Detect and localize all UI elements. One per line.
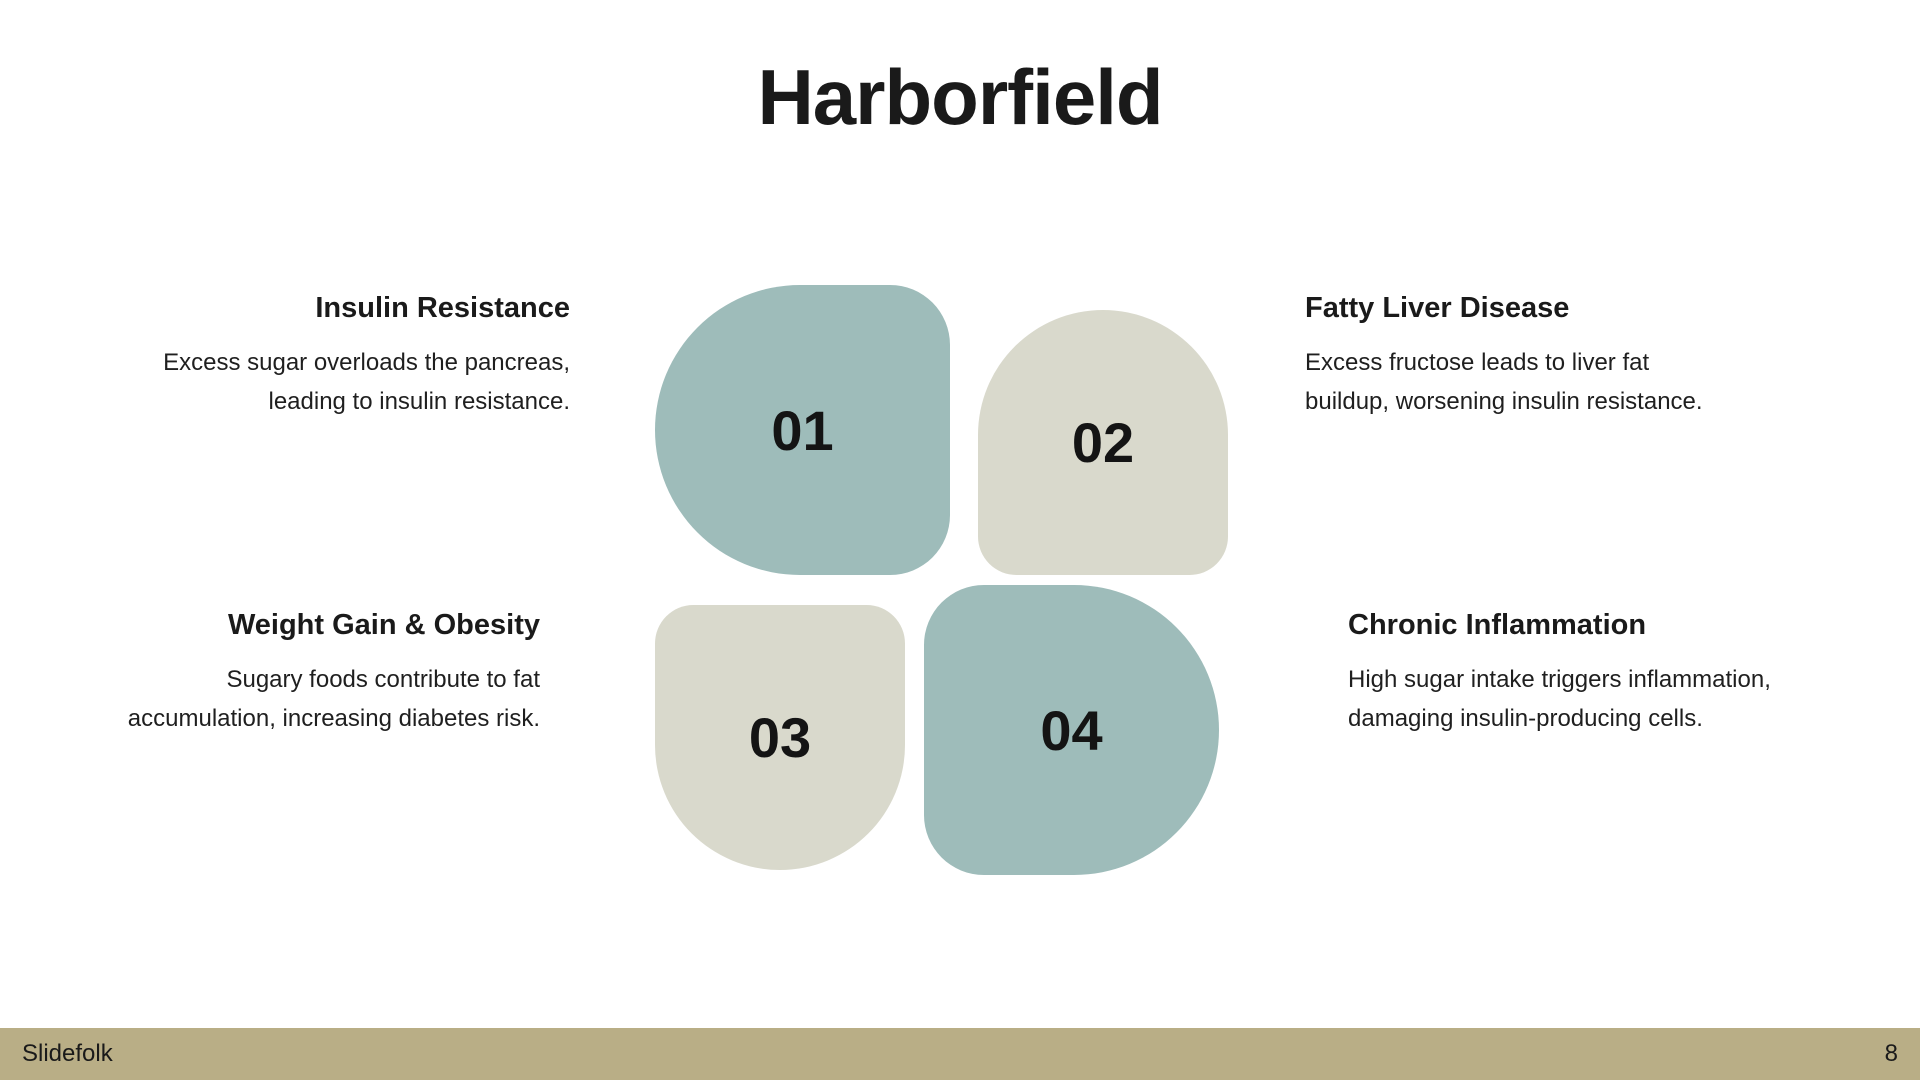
number-shape-03[interactable]: 03 [655,605,905,870]
number-shape-01[interactable]: 01 [655,285,950,575]
text-block-03: Weight Gain & Obesity Sugary foods contr… [110,607,540,739]
text-block-02: Fatty Liver Disease Excess fructose lead… [1305,290,1735,422]
item-heading-03: Weight Gain & Obesity [110,607,540,643]
item-heading-04: Chronic Inflammation [1348,607,1778,643]
number-label-02: 02 [1072,410,1134,475]
number-shape-02[interactable]: 02 [978,310,1228,575]
item-body-01: Excess sugar overloads the pancreas, lea… [140,344,570,422]
footer-page-number: 8 [1885,1040,1898,1068]
shape-cluster: 01 02 03 04 [655,255,1275,895]
item-body-03: Sugary foods contribute to fat accumulat… [110,661,540,739]
footer-brand: Slidefolk [22,1040,113,1068]
text-block-04: Chronic Inflammation High sugar intake t… [1348,607,1778,739]
footer-bar: Slidefolk 8 [0,1028,1920,1080]
item-heading-02: Fatty Liver Disease [1305,290,1735,326]
text-block-01: Insulin Resistance Excess sugar overload… [140,290,570,422]
number-label-04: 04 [1040,698,1102,763]
item-heading-01: Insulin Resistance [140,290,570,326]
item-body-04: High sugar intake triggers inflammation,… [1348,661,1778,739]
content-area: Insulin Resistance Excess sugar overload… [0,255,1920,895]
item-body-02: Excess fructose leads to liver fat build… [1305,344,1735,422]
page-title: Harborfield [0,55,1920,141]
slide-canvas: Harborfield Insulin Resistance Excess su… [0,0,1920,1080]
number-label-01: 01 [771,398,833,463]
number-label-03: 03 [749,705,811,770]
number-shape-04[interactable]: 04 [924,585,1219,875]
